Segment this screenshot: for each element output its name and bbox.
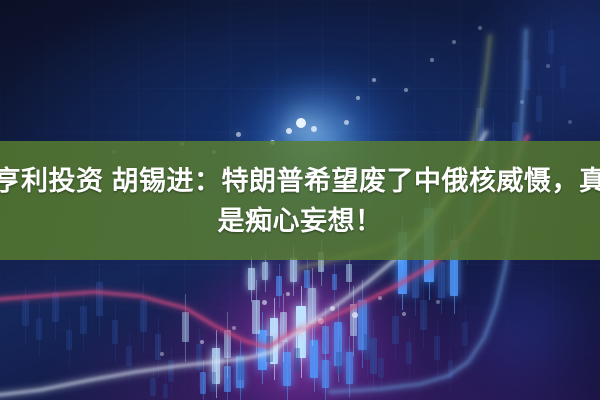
headline-banner: 亨利投资 胡锡进：特朗普希望废了中俄核威慑，真 是痴心妄想！ (0, 141, 600, 260)
headline-line-1: 亨利投资 胡锡进：特朗普希望废了中俄核威慑，真 (0, 161, 600, 201)
headline-line-2: 是痴心妄想！ (218, 201, 383, 241)
image-canvas: 亨利投资 胡锡进：特朗普希望废了中俄核威慑，真 是痴心妄想！ (0, 0, 600, 400)
